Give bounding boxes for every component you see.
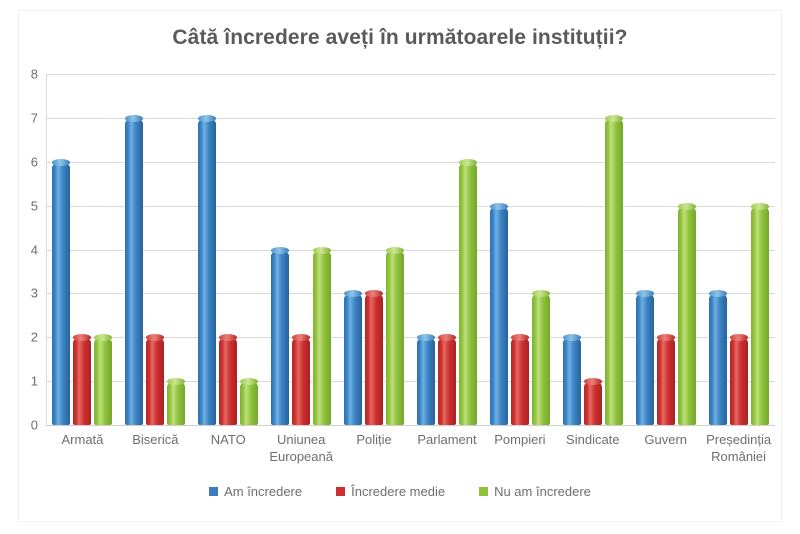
bar-group xyxy=(265,74,338,425)
y-tick-label: 3 xyxy=(10,286,38,301)
bar[interactable] xyxy=(167,381,185,425)
gridline-0 xyxy=(46,425,775,426)
bar[interactable] xyxy=(584,381,602,425)
bar[interactable] xyxy=(94,337,112,425)
chart-legend: Am încredereÎncredere medieNu am încrede… xyxy=(0,484,800,499)
x-tick-label: Armată xyxy=(46,431,119,465)
bar[interactable] xyxy=(52,162,70,425)
y-tick-label: 5 xyxy=(10,198,38,213)
legend-item[interactable]: Încredere medie xyxy=(336,484,445,499)
y-tick-label: 6 xyxy=(10,154,38,169)
bar[interactable] xyxy=(146,337,164,425)
bar-cap xyxy=(730,334,748,341)
bar-cap xyxy=(167,378,185,385)
bar[interactable] xyxy=(605,118,623,425)
x-tick-label: Guvern xyxy=(629,431,702,465)
bar[interactable] xyxy=(459,162,477,425)
x-tick-label: NATO xyxy=(192,431,265,465)
legend-swatch-icon xyxy=(479,487,488,496)
bar[interactable] xyxy=(198,118,216,425)
bar[interactable] xyxy=(751,206,769,425)
bar-group xyxy=(338,74,411,425)
y-tick-label: 7 xyxy=(10,110,38,125)
chart-container: Câtă încredere aveți în următoarele inst… xyxy=(0,0,800,534)
chart-title: Câtă încredere aveți în următoarele inst… xyxy=(0,26,800,50)
legend-item[interactable]: Am încredere xyxy=(209,484,302,499)
bar-cap xyxy=(532,290,550,297)
bar[interactable] xyxy=(125,118,143,425)
bar-cap xyxy=(605,115,623,122)
bar-cap xyxy=(219,334,237,341)
x-tick-label: Parlament xyxy=(411,431,484,465)
legend-label: Nu am încredere xyxy=(494,484,591,499)
bar[interactable] xyxy=(636,293,654,425)
x-tick-label: Sindicate xyxy=(556,431,629,465)
bar-cap xyxy=(459,159,477,166)
y-tick-label: 2 xyxy=(10,330,38,345)
bar-group xyxy=(483,74,556,425)
x-tick-label: Biserică xyxy=(119,431,192,465)
bar-group xyxy=(411,74,484,425)
bar-cap xyxy=(417,334,435,341)
bar-cap xyxy=(490,203,508,210)
legend-swatch-icon xyxy=(209,487,218,496)
bar[interactable] xyxy=(313,250,331,426)
bar[interactable] xyxy=(292,337,310,425)
bar-group xyxy=(46,74,119,425)
bar-group xyxy=(629,74,702,425)
bar[interactable] xyxy=(344,293,362,425)
bar-cap xyxy=(584,378,602,385)
bar[interactable] xyxy=(73,337,91,425)
x-tick-label: Pompieri xyxy=(483,431,556,465)
bar-cap xyxy=(709,290,727,297)
legend-label: Am încredere xyxy=(224,484,302,499)
bar[interactable] xyxy=(438,337,456,425)
x-tick-label: Poliție xyxy=(338,431,411,465)
bar-cap xyxy=(313,247,331,254)
bar-cap xyxy=(636,290,654,297)
bar[interactable] xyxy=(563,337,581,425)
bar-cap xyxy=(292,334,310,341)
x-tick-label: Uniunea Europeană xyxy=(265,431,338,465)
bar[interactable] xyxy=(490,206,508,425)
bar-group xyxy=(192,74,265,425)
bar-cap xyxy=(52,159,70,166)
bar-cap xyxy=(438,334,456,341)
bar-group xyxy=(119,74,192,425)
bar-cap xyxy=(146,334,164,341)
bar[interactable] xyxy=(511,337,529,425)
bar-cap xyxy=(125,115,143,122)
bar[interactable] xyxy=(730,337,748,425)
bar[interactable] xyxy=(386,250,404,426)
bar-cap xyxy=(344,290,362,297)
bar-cap xyxy=(563,334,581,341)
bar-cap xyxy=(94,334,112,341)
bar[interactable] xyxy=(240,381,258,425)
bar-cap xyxy=(365,290,383,297)
legend-swatch-icon xyxy=(336,487,345,496)
x-tick-label: Președinția României xyxy=(702,431,775,465)
bar-cap xyxy=(386,247,404,254)
bar-group xyxy=(702,74,775,425)
bar[interactable] xyxy=(365,293,383,425)
bar-cap xyxy=(751,203,769,210)
bar-group xyxy=(556,74,629,425)
bar[interactable] xyxy=(219,337,237,425)
y-tick-label: 4 xyxy=(10,242,38,257)
x-axis-category-labels: ArmatăBisericăNATOUniunea EuropeanăPoliț… xyxy=(46,431,775,465)
bar[interactable] xyxy=(271,250,289,426)
bar-groups xyxy=(46,74,775,425)
bar[interactable] xyxy=(532,293,550,425)
bar-cap xyxy=(657,334,675,341)
bar-cap xyxy=(240,378,258,385)
legend-label: Încredere medie xyxy=(351,484,445,499)
bar[interactable] xyxy=(657,337,675,425)
bar-cap xyxy=(271,247,289,254)
bar-cap xyxy=(73,334,91,341)
bar-cap xyxy=(198,115,216,122)
bar[interactable] xyxy=(678,206,696,425)
legend-item[interactable]: Nu am încredere xyxy=(479,484,591,499)
y-tick-label: 8 xyxy=(10,67,38,82)
bar[interactable] xyxy=(417,337,435,425)
bar-cap xyxy=(511,334,529,341)
bar-cap xyxy=(678,203,696,210)
y-tick-label: 1 xyxy=(10,374,38,389)
y-tick-label: 0 xyxy=(10,418,38,433)
bar[interactable] xyxy=(709,293,727,425)
